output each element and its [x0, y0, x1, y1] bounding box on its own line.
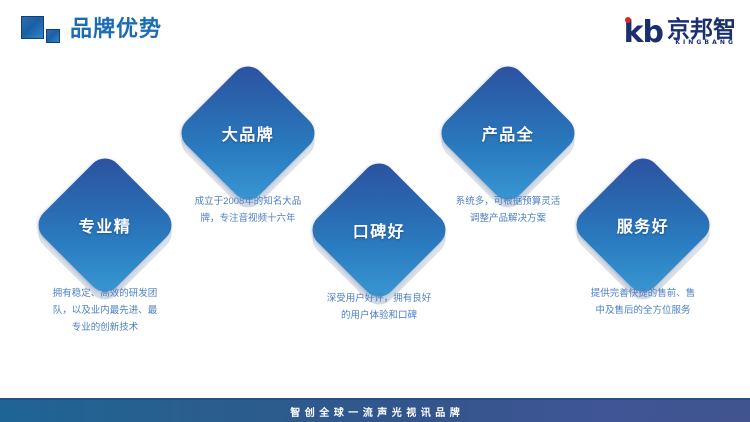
feature-label-2: 大品牌 [196, 81, 300, 185]
feature-diamond-1[interactable]: 专业精 [53, 173, 157, 277]
feature-caption-1: 拥有稳定、高效的研发团 队，以及业内最先进、最 专业的创新技术 [28, 285, 182, 336]
feature-label-1: 专业精 [53, 173, 157, 277]
footer-slogan: 智创全球一流声光视讯品牌 [286, 404, 465, 419]
feature-caption-2: 成立于2008年的知名大品 牌，专注音视频十六年 [171, 193, 325, 227]
feature-diamond-5[interactable]: 服务好 [591, 173, 695, 277]
feature-caption-5: 提供完善快捷的售前、售 中及售后的全方位服务 [566, 285, 720, 319]
feature-diamond-2[interactable]: 大品牌 [196, 81, 300, 185]
feature-label-4: 产品全 [456, 81, 560, 185]
feature-caption-4: 系统多，可根据预算灵活 调整产品解决方案 [431, 193, 585, 227]
feature-diamond-4[interactable]: 产品全 [456, 81, 560, 185]
feature-diamond-group: 专业精 拥有稳定、高效的研发团 队，以及业内最先进、最 专业的创新技术 大品牌 … [0, 0, 750, 396]
slide-footer: 智创全球一流声光视讯品牌 [0, 398, 750, 422]
feature-label-3: 口碑好 [327, 178, 431, 282]
feature-caption-3: 深受用户好评，拥有良好 的用户体验和口碑 [302, 290, 456, 324]
feature-label-5: 服务好 [591, 173, 695, 277]
feature-diamond-3[interactable]: 口碑好 [327, 178, 431, 282]
